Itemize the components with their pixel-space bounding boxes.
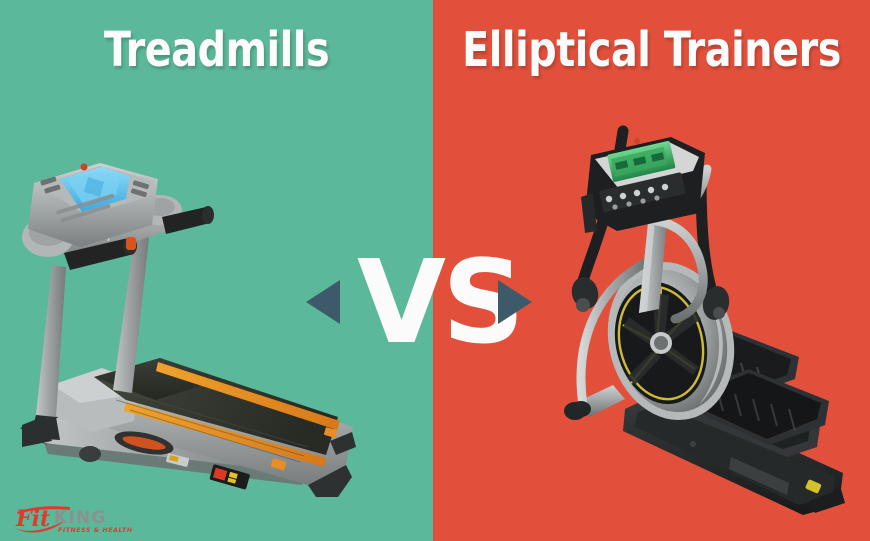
triangle-left-icon [306,280,340,324]
right-panel-title: Elliptical Trainers [450,22,852,78]
triangle-right-icon [498,280,532,324]
elliptical-trainer-image [553,113,868,518]
versus-label: VS [357,241,497,366]
logo-script-text: Fit [15,506,50,532]
logo-block-text: KING [54,508,106,528]
logo-tagline: FITNESS & HEALTH [58,527,132,534]
versus-badge: VS [302,255,552,350]
left-panel-title: Treadmills [17,22,415,78]
comparison-graphic: Treadmills Elliptical Trainers [0,0,870,541]
fitking-logo: Fit KING FITNESS & HEALTH [14,501,132,535]
treadmill-deck [50,358,356,497]
elliptical-console [581,137,705,233]
